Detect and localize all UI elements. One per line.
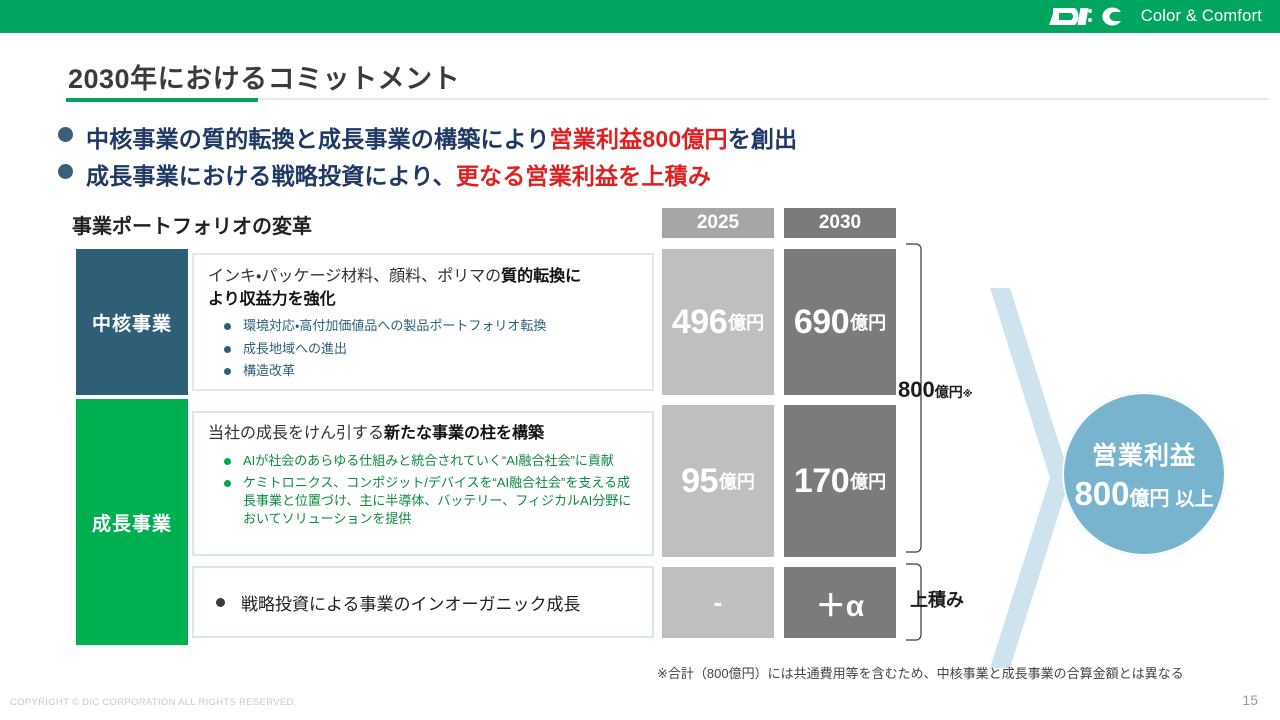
headline-1-pre: 中核事業の質的転換と成長事業の構築により [86, 126, 550, 152]
growth-sub-2: ケミトロニクス、コンポジット/デバイスを“AI融合社会”を支える成長事業と位置づ… [243, 474, 638, 529]
goal-circle: 営業利益 800 億円 以上 [1062, 392, 1226, 556]
list-item: AIが社会のあらゆる仕組みと統合されていく“AI融合社会”に貢献 [208, 452, 638, 470]
value-growth-2030: 170 億円 [784, 405, 896, 557]
slide-root: Color & Comfort 2030年におけるコミットメント 中核事業の質的… [0, 0, 1280, 720]
value-number: 690 [794, 303, 849, 342]
list-item: ケミトロニクス、コンポジット/デバイスを“AI融合社会”を支える成長事業と位置づ… [208, 474, 638, 529]
column-header-2025: 2025 [662, 208, 774, 238]
page-number: 15 [1242, 692, 1258, 708]
copyright-text: COPYRIGHT © DIC CORPORATION ALL RIGHTS R… [10, 697, 297, 708]
inorganic-row: 戦略投資による事業のインオーガニック成長 [216, 590, 581, 615]
value-growth-2025: 95 億円 [662, 405, 774, 557]
uptick-bracket-label: 上積み [910, 586, 964, 612]
core-lead-plain: インキ・パッケージ材料、顔料、ポリマの [208, 268, 501, 285]
core-sub-3: 構造改革 [243, 362, 295, 380]
total-unit: 億円 [935, 382, 963, 402]
bullet-dot-icon [58, 127, 73, 142]
growth-sub-list: AIが社会のあらゆる仕組みと統合されていく“AI融合社会”に貢献 ケミトロニクス… [208, 452, 638, 529]
growth-lead-plain: 当社の成長をけん引する [208, 425, 384, 442]
value-core-2030: 690 億円 [784, 249, 896, 395]
growth-business-content: 当社の成長をけん引する新たな事業の柱を構築 AIが社会のあらゆる仕組みと統合され… [192, 411, 654, 556]
dic-logo-icon [1049, 5, 1127, 28]
brand-logo: Color & Comfort [1049, 5, 1262, 28]
value-unit: 億円 [728, 309, 764, 335]
page-title: 2030年におけるコミットメント [68, 57, 460, 96]
headline-1-text: 中核事業の質的転換と成長事業の構築により営業利益800億円を創出 [86, 120, 797, 154]
sub-bullet-icon [224, 323, 231, 330]
brand-tagline: Color & Comfort [1141, 7, 1262, 26]
list-item: 成長地域への進出 [208, 340, 638, 358]
category-label-growth: 成長事業 [76, 399, 188, 645]
value-number: 95 [681, 462, 718, 501]
title-rule-light [258, 98, 1268, 100]
value-unit: 億円 [850, 468, 886, 494]
category-label-core: 中核事業 [76, 249, 188, 395]
growth-sub-1: AIが社会のあらゆる仕組みと統合されていく“AI融合社会”に貢献 [243, 452, 614, 470]
goal-circle-amount: 800 [1074, 475, 1129, 513]
headline-1: 中核事業の質的転換と成長事業の構築により営業利益800億円を創出 [58, 120, 797, 154]
bullet-dot-icon [58, 164, 73, 179]
headline-2: 成長事業における戦略投資により、更なる営業利益を上積み [58, 157, 711, 191]
portfolio-section-label: 事業ポートフォリオの変革 [72, 210, 312, 239]
inorganic-growth-content: 戦略投資による事業のインオーガニック成長 [192, 566, 654, 638]
core-sub-2: 成長地域への進出 [243, 340, 347, 358]
value-core-2025: 496 億円 [662, 249, 774, 395]
value-number: 170 [794, 462, 849, 501]
headline-2-text: 成長事業における戦略投資により、更なる営業利益を上積み [86, 157, 711, 191]
value-inorganic-2030: ＋α [784, 567, 896, 638]
core-lead-text: インキ・パッケージ材料、顔料、ポリマの質的転換により収益力を強化 [208, 266, 638, 311]
value-unit: 億円 [850, 309, 886, 335]
footnote-text: ※合計（800億円）には共通費用等を含むため、中核事業と成長事業の合算金額とは異… [657, 663, 1184, 682]
goal-circle-unit: 億円 [1130, 482, 1170, 511]
footnote-mark: ※ [963, 389, 973, 400]
growth-lead-bold: 新たな事業の柱を構築 [384, 425, 544, 442]
value-number: - [714, 587, 723, 618]
sub-bullet-icon [224, 346, 231, 353]
title-rule-accent [66, 98, 258, 102]
column-header-2030: 2030 [784, 208, 896, 238]
bullet-dot-icon [216, 598, 225, 607]
headline-1-emphasis: 営業利益800億円 [550, 126, 728, 152]
core-business-content: インキ・パッケージ材料、顔料、ポリマの質的転換により収益力を強化 環境対応・高付… [192, 253, 654, 391]
total-bracket-label: 800 億円 ※ [898, 377, 972, 403]
headline-1-post: を創出 [728, 126, 798, 152]
value-unit: 億円 [719, 468, 755, 494]
goal-circle-line2: 800 億円 以上 [1074, 475, 1213, 513]
core-sub-1: 環境対応・高付加価値品への製品ポートフォリオ転換 [243, 317, 546, 335]
value-inorganic-2025: - [662, 567, 774, 638]
goal-circle-qualifier: 以上 [1176, 484, 1214, 511]
core-sub-list: 環境対応・高付加価値品への製品ポートフォリオ転換 成長地域への進出 構造改革 [208, 317, 638, 380]
list-item: 構造改革 [208, 362, 638, 380]
headline-2-pre: 成長事業における戦略投資により、 [86, 163, 456, 189]
sub-bullet-icon [224, 368, 231, 375]
inorganic-text: 戦略投資による事業のインオーガニック成長 [241, 590, 581, 615]
sub-bullet-icon [224, 480, 231, 487]
value-number: ＋α [816, 581, 864, 625]
header-band: Color & Comfort [0, 0, 1280, 33]
sub-bullet-icon [224, 458, 231, 465]
core-lead-bold2: より収益力を強化 [208, 291, 336, 308]
growth-lead-text: 当社の成長をけん引する新たな事業の柱を構築 [208, 423, 638, 446]
goal-circle-line1: 営業利益 [1092, 436, 1196, 472]
list-item: 環境対応・高付加価値品への製品ポートフォリオ転換 [208, 317, 638, 335]
headline-2-emphasis: 更なる営業利益を上積み [456, 163, 711, 189]
value-number: 496 [672, 303, 727, 342]
total-number: 800 [898, 377, 935, 403]
core-lead-bold: 質的転換に [501, 268, 581, 285]
